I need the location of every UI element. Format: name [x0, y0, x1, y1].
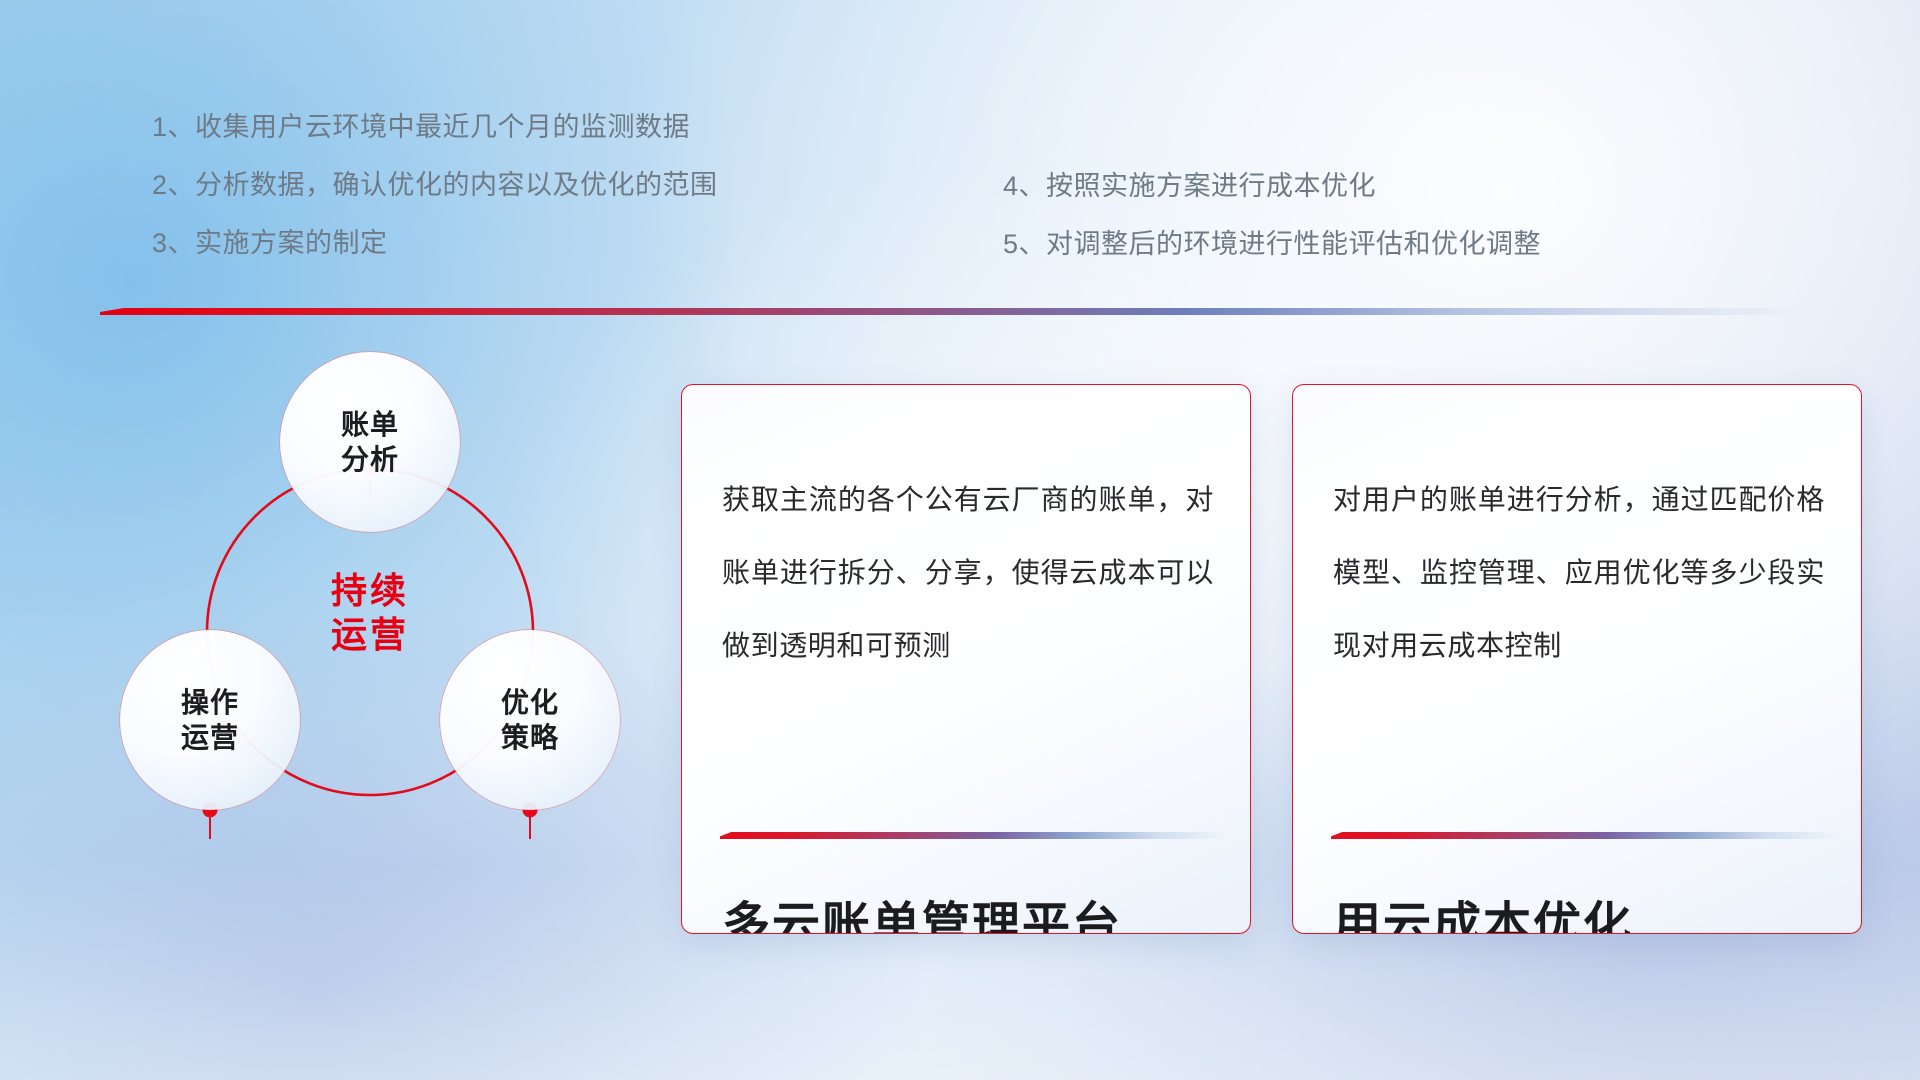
diagram-lobe-label-line1: 优化 [501, 687, 559, 718]
diagram-lobe-label-line1: 操作 [181, 687, 239, 718]
diagram-lobe-label: 操作 运营 [181, 685, 239, 756]
steps-left-column: 1、收集用户云环境中最近几个月的监测数据 2、分析数据，确认优化的内容以及优化的… [152, 98, 718, 272]
continuous-operation-diagram: 账单 分析 操作 运营 优化 策略 持续 运营 [95, 352, 655, 932]
section-divider [100, 304, 1800, 320]
diagram-center-label-line2: 运营 [331, 613, 409, 657]
feature-card-cloud-cost-optimization[interactable]: 对用户的账单进行分析，通过匹配价格模型、监控管理、应用优化等多少段实现对用云成本… [1292, 384, 1862, 934]
step-item: 4、按照实施方案进行成本优化 [1003, 157, 1541, 215]
diagram-lobe-label: 账单 分析 [341, 407, 399, 478]
diagram-lobe-label-line2: 策略 [501, 722, 559, 753]
feature-card-description: 对用户的账单进行分析，通过匹配价格模型、监控管理、应用优化等多少段实现对用云成本… [1333, 463, 1825, 682]
diagram-lobe-operations[interactable]: 操作 运营 [120, 630, 300, 810]
feature-card-divider [1331, 829, 1841, 841]
step-item: 5、对调整后的环境进行性能评估和优化调整 [1003, 215, 1541, 273]
feature-card-divider-bar [720, 832, 1230, 839]
diagram-lobe-label-line2: 分析 [341, 444, 399, 475]
diagram-center-label: 持续 运营 [285, 548, 455, 678]
feature-card-multicloud-billing[interactable]: 获取主流的各个公有云厂商的账单，对账单进行拆分、分享，使得云成本可以做到透明和可… [681, 384, 1251, 934]
diagram-lobe-label-line2: 运营 [181, 722, 239, 753]
step-item: 3、实施方案的制定 [152, 214, 718, 272]
diagram-lobe-optimization-strategy[interactable]: 优化 策略 [440, 630, 620, 810]
feature-card-divider [720, 829, 1230, 841]
diagram-lobe-bill-analysis[interactable]: 账单 分析 [280, 352, 460, 532]
diagram-center-label-line1: 持续 [331, 569, 409, 613]
feature-card-divider-bar [1331, 832, 1841, 839]
step-item: 1、收集用户云环境中最近几个月的监测数据 [152, 98, 718, 156]
feature-card-description: 获取主流的各个公有云厂商的账单，对账单进行拆分、分享，使得云成本可以做到透明和可… [722, 463, 1214, 682]
feature-card-title: 用云成本优化 [1333, 885, 1633, 934]
step-item: 2、分析数据，确认优化的内容以及优化的范围 [152, 156, 718, 214]
diagram-lobe-label-line1: 账单 [341, 409, 399, 440]
section-divider-bar [100, 308, 1800, 315]
steps-right-column: 4、按照实施方案进行成本优化 5、对调整后的环境进行性能评估和优化调整 [1003, 157, 1541, 273]
feature-card-title: 多云账单管理平台 [722, 885, 1122, 934]
diagram-lobe-label: 优化 策略 [501, 685, 559, 756]
slide-content: 1、收集用户云环境中最近几个月的监测数据 2、分析数据，确认优化的内容以及优化的… [0, 0, 1920, 1080]
